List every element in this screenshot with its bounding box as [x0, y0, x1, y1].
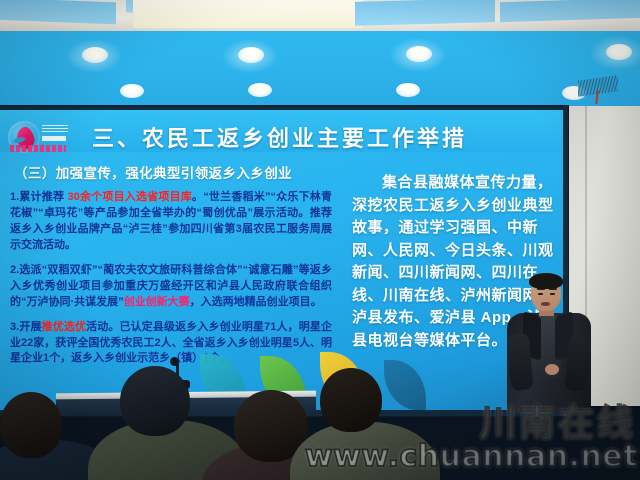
- paragraph-segment: ，入选两地精品创业项目。: [190, 296, 322, 308]
- presenter-eye: [538, 293, 543, 295]
- ceiling-light-box: [133, 0, 363, 28]
- slide-paragraph: 2.选派“双稻双虾”“蔺农夫农文旅研科普综合体”“诚意石雕”等返乡入乡优秀创业项…: [10, 263, 332, 311]
- audience-head: [320, 368, 382, 432]
- paragraph-segment: 推优选优: [42, 321, 87, 333]
- slide-paragraph: 1.累计推荐 30余个项目入选省项目库。“世兰香稻米”“众乐下林青花椒”“卓玛花…: [10, 190, 332, 254]
- presenter-hair: [529, 273, 563, 289]
- ceiling-spot-light: [406, 46, 432, 62]
- ceiling-spot-light: [120, 84, 144, 98]
- presenter-mouth: [541, 302, 550, 306]
- ceiling-spot-light: [396, 83, 420, 97]
- watermark-url: www.chuannan.net: [305, 439, 638, 474]
- paragraph-segment: 30余个项目入选省项目库: [68, 191, 193, 203]
- logo-text-lines: [42, 125, 68, 134]
- audience-head: [120, 366, 190, 436]
- paragraph-index: 2.: [10, 264, 19, 276]
- ceiling-spot-light: [606, 44, 632, 60]
- paragraph-segment: 开展: [19, 321, 41, 333]
- logo-name-bar: [42, 136, 66, 141]
- presenter-hand: [545, 364, 559, 375]
- slide-subtitle: （三）加强宣传，强化典型引领返乡入乡创业: [14, 162, 292, 182]
- ceiling-spot-light: [248, 83, 272, 97]
- screenshot-root: 三、农民工返乡创业主要工作举措 （三）加强宣传，强化典型引领返乡入乡创业 1.累…: [0, 0, 640, 480]
- organization-logo: [6, 120, 68, 154]
- logo-slogan-bar: [10, 145, 66, 152]
- slide-title: 三、农民工返乡创业主要工作举措: [92, 121, 522, 153]
- microphone-capsule: [170, 357, 179, 366]
- ceiling-panel: [355, 0, 495, 26]
- paragraph-segment: 创业创新大赛: [124, 296, 190, 308]
- audience-member: [98, 368, 228, 480]
- slide-left-column: 1.累计推荐 30余个项目入选省项目库。“世兰香稻米”“众乐下林青花椒”“卓玛花…: [10, 190, 332, 376]
- ceiling-spot-light: [82, 47, 108, 63]
- ceiling-spot-light: [238, 47, 264, 63]
- paragraph-index: 1.: [10, 191, 19, 203]
- paragraph-segment: 累计推荐: [19, 191, 67, 203]
- audience-head: [0, 392, 62, 458]
- presenter-eye: [550, 293, 555, 295]
- paragraph-index: 3.: [10, 321, 19, 333]
- presentation-slide: 三、农民工返乡创业主要工作举措 （三）加强宣传，强化典型引领返乡入乡创业 1.累…: [0, 110, 563, 410]
